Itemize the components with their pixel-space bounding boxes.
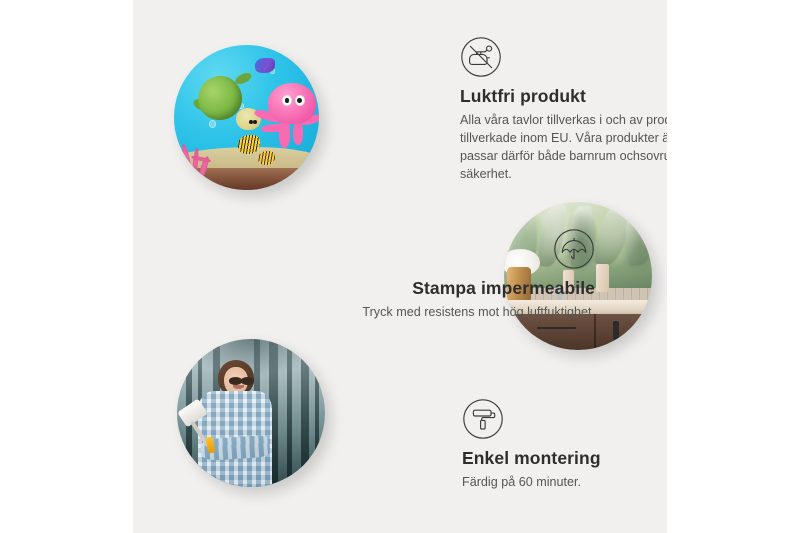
feature-easy-mounting: Enkel montering Färdig på 60 minuter. bbox=[462, 398, 667, 492]
octopus-head bbox=[268, 83, 317, 124]
photo-underwater-kids-mural bbox=[174, 45, 319, 190]
paint-roller-icon bbox=[462, 398, 504, 440]
yellow-fish-icon bbox=[238, 135, 260, 154]
door-handle bbox=[613, 321, 619, 340]
octopus-illustration bbox=[252, 83, 319, 150]
feature-waterproof-print: Stampa impermeabile Tryck med resistens … bbox=[313, 228, 595, 322]
woman-eye bbox=[241, 377, 254, 384]
photo-decorator-forest-mural bbox=[177, 339, 325, 487]
product-feature-infographic: Luktfri produkt Alla våra tavlor tillver… bbox=[0, 0, 800, 533]
drawer-handle bbox=[537, 327, 576, 329]
feature-description: Färdig på 60 minuter. bbox=[462, 474, 667, 492]
feature-description: Alla våra tavlor tillverkas i och av pro… bbox=[460, 112, 667, 184]
feature-title: Enkel montering bbox=[462, 448, 667, 469]
octopus-tentacle bbox=[279, 121, 290, 148]
blue-fish-icon bbox=[255, 58, 275, 73]
underwater-scene bbox=[174, 45, 319, 190]
feature-title: Luktfri produkt bbox=[460, 86, 667, 107]
feature-description: Tryck med resistens mot hög luftfuktighe… bbox=[313, 304, 595, 322]
coral-illustration bbox=[180, 135, 229, 179]
umbrella-icon bbox=[553, 228, 595, 270]
octopus-eye bbox=[295, 95, 305, 106]
no-fragrance-icon bbox=[460, 36, 502, 78]
forest-scene bbox=[177, 339, 325, 487]
turtle-illustration bbox=[193, 74, 258, 132]
octopus-tentacle bbox=[293, 121, 303, 145]
octopus-eye bbox=[282, 95, 292, 106]
feature-odour-free: Luktfri produkt Alla våra tavlor tillver… bbox=[460, 36, 667, 184]
feature-title: Stampa impermeabile bbox=[313, 278, 595, 299]
content-panel: Luktfri produkt Alla våra tavlor tillver… bbox=[133, 0, 667, 533]
towel-roll bbox=[596, 264, 609, 292]
